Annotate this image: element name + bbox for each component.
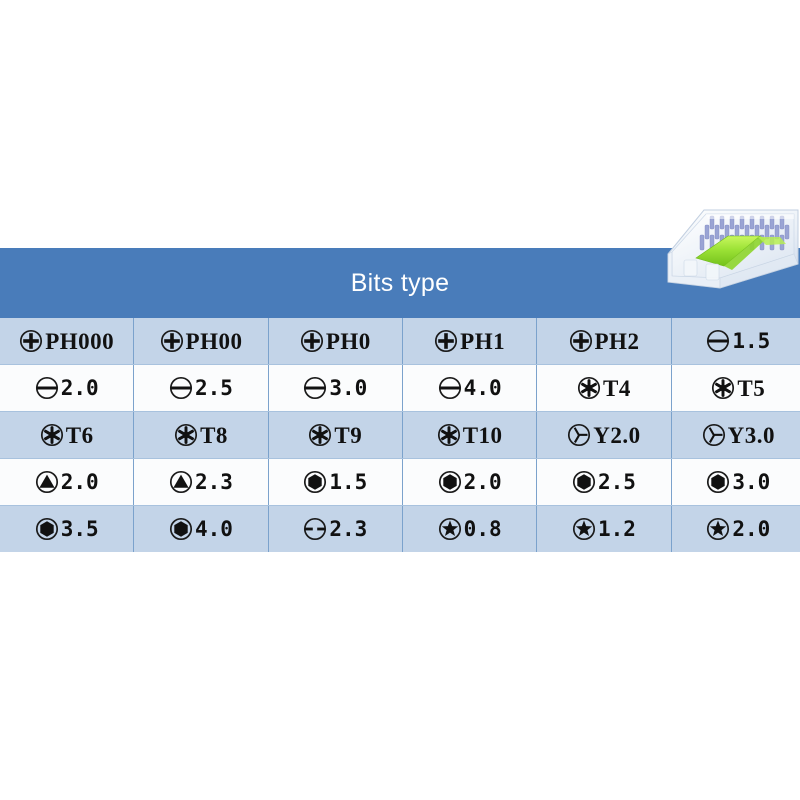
- bit-label: Y2.0: [593, 424, 640, 447]
- bit-cell[interactable]: 1.2: [537, 506, 671, 553]
- bit-label: T10: [463, 424, 503, 447]
- bits-type-banner: Bits type: [0, 248, 800, 318]
- bit-cell-content: 2.5: [572, 470, 636, 494]
- table-row: T6T8T9T10Y2.0Y3.0: [0, 412, 800, 459]
- triangle-icon: [169, 470, 193, 494]
- bit-cell[interactable]: 3.5: [0, 506, 134, 553]
- hex-socket-icon: [706, 470, 730, 494]
- bit-cell-content: PH0: [300, 329, 371, 353]
- bit-cell[interactable]: PH000: [0, 318, 134, 365]
- bit-label: Y3.0: [728, 424, 775, 447]
- bit-label: 2.5: [598, 472, 636, 493]
- page-title: Bits type: [0, 248, 800, 318]
- bit-cell-content: 4.0: [438, 376, 502, 400]
- bit-cell-content: T10: [437, 423, 503, 447]
- phillips-cross-icon: [434, 329, 458, 353]
- bits-table-body: PH000PH00PH0PH1PH21.52.02.53.04.0T4T5T6T…: [0, 318, 800, 552]
- bit-label: PH1: [460, 330, 505, 353]
- bit-label: T6: [66, 424, 94, 447]
- bit-cell[interactable]: 4.0: [134, 506, 268, 553]
- bit-cell[interactable]: 2.3: [134, 459, 268, 506]
- u-split-slot-icon: [303, 517, 327, 541]
- bit-cell-content: 2.3: [169, 470, 233, 494]
- bit-cell[interactable]: T6: [0, 412, 134, 459]
- bit-cell-content: Y3.0: [702, 423, 775, 447]
- bit-label: T5: [737, 377, 765, 400]
- pentalobe-star-icon: [706, 517, 730, 541]
- bit-cell-content: 1.5: [706, 329, 770, 353]
- bit-label: 2.0: [464, 472, 502, 493]
- bit-label: 3.0: [329, 378, 367, 399]
- bit-cell-content: PH2: [569, 329, 640, 353]
- slotted-flathead-icon: [169, 376, 193, 400]
- bit-cell[interactable]: T4: [537, 365, 671, 412]
- hex-socket-icon: [35, 517, 59, 541]
- bit-cell-content: T9: [308, 423, 362, 447]
- bit-label: 2.0: [732, 519, 770, 540]
- bit-label: 1.5: [732, 331, 770, 352]
- bit-cell-content: 1.5: [303, 470, 367, 494]
- bits-type-table: PH000PH00PH0PH1PH21.52.02.53.04.0T4T5T6T…: [0, 318, 800, 552]
- bit-label: T4: [603, 377, 631, 400]
- bit-cell[interactable]: 0.8: [402, 506, 536, 553]
- torx-star-icon: [174, 423, 198, 447]
- bit-cell-content: 2.3: [303, 517, 367, 541]
- bit-label: 4.0: [464, 378, 502, 399]
- table-row: 2.02.53.04.0T4T5: [0, 365, 800, 412]
- table-row: PH000PH00PH0PH1PH21.5: [0, 318, 800, 365]
- bits-type-spec-page: Bits type PH000PH00PH0PH1PH21.52.02.53.0…: [0, 0, 800, 800]
- bit-cell[interactable]: 2.5: [134, 365, 268, 412]
- bit-cell-content: 2.0: [706, 517, 770, 541]
- torx-star-icon: [437, 423, 461, 447]
- bit-cell[interactable]: 1.5: [268, 459, 402, 506]
- bit-cell-content: 3.5: [35, 517, 99, 541]
- pentalobe-star-icon: [438, 517, 462, 541]
- tri-wing-y-icon: [702, 423, 726, 447]
- torx-star-icon: [40, 423, 64, 447]
- bit-label: PH0: [326, 330, 371, 353]
- bit-label: 4.0: [195, 519, 233, 540]
- bit-label: 1.2: [598, 519, 636, 540]
- torx-star-icon: [711, 376, 735, 400]
- bit-label: T8: [200, 424, 228, 447]
- bit-cell-content: T4: [577, 376, 631, 400]
- bit-cell-content: 1.2: [572, 517, 636, 541]
- bit-label: 0.8: [464, 519, 502, 540]
- phillips-cross-icon: [300, 329, 324, 353]
- slotted-flathead-icon: [303, 376, 327, 400]
- bit-label: PH2: [595, 330, 640, 353]
- torx-star-icon: [308, 423, 332, 447]
- bit-cell[interactable]: Y3.0: [671, 412, 800, 459]
- bit-cell[interactable]: PH1: [402, 318, 536, 365]
- torx-star-icon: [577, 376, 601, 400]
- bit-label: 2.0: [61, 378, 99, 399]
- bit-label: 1.5: [329, 472, 367, 493]
- bit-cell[interactable]: PH00: [134, 318, 268, 365]
- phillips-cross-icon: [19, 329, 43, 353]
- pentalobe-star-icon: [572, 517, 596, 541]
- bit-cell[interactable]: T8: [134, 412, 268, 459]
- bit-cell-content: 4.0: [169, 517, 233, 541]
- table-row: 3.54.02.30.81.22.0: [0, 506, 800, 553]
- bit-cell-content: 2.0: [35, 376, 99, 400]
- slotted-flathead-icon: [35, 376, 59, 400]
- bit-cell-content: T8: [174, 423, 228, 447]
- bit-cell-content: 0.8: [438, 517, 502, 541]
- bit-cell[interactable]: 2.0: [0, 459, 134, 506]
- bit-cell-content: PH000: [19, 329, 114, 353]
- slotted-flathead-icon: [438, 376, 462, 400]
- bit-cell[interactable]: 3.0: [671, 459, 800, 506]
- bit-cell-content: T6: [40, 423, 94, 447]
- bit-label: 2.3: [329, 519, 367, 540]
- bit-cell-content: PH00: [160, 329, 243, 353]
- tri-wing-y-icon: [567, 423, 591, 447]
- hex-socket-icon: [572, 470, 596, 494]
- bit-cell[interactable]: 4.0: [402, 365, 536, 412]
- bit-label: PH00: [186, 330, 243, 353]
- hex-socket-icon: [438, 470, 462, 494]
- bit-cell[interactable]: 2.3: [268, 506, 402, 553]
- bit-label: PH000: [45, 330, 114, 353]
- bit-cell[interactable]: 2.0: [402, 459, 536, 506]
- bit-cell[interactable]: PH2: [537, 318, 671, 365]
- bit-cell-content: T5: [711, 376, 765, 400]
- bit-cell[interactable]: 2.0: [671, 506, 800, 553]
- bit-cell[interactable]: Y2.0: [537, 412, 671, 459]
- bit-cell[interactable]: 2.0: [0, 365, 134, 412]
- bit-label: 2.0: [61, 472, 99, 493]
- bit-cell-content: 3.0: [706, 470, 770, 494]
- bit-label: 2.3: [195, 472, 233, 493]
- bit-label: 2.5: [195, 378, 233, 399]
- bit-cell[interactable]: PH0: [268, 318, 402, 365]
- bit-cell-content: PH1: [434, 329, 505, 353]
- bit-cell-content: 3.0: [303, 376, 367, 400]
- slotted-flathead-icon: [706, 329, 730, 353]
- bit-cell[interactable]: 1.5: [671, 318, 800, 365]
- bit-cell[interactable]: T5: [671, 365, 800, 412]
- hex-socket-icon: [169, 517, 193, 541]
- bit-cell-content: 2.5: [169, 376, 233, 400]
- bit-cell[interactable]: 2.5: [537, 459, 671, 506]
- bit-cell[interactable]: T10: [402, 412, 536, 459]
- bit-cell-content: 2.0: [35, 470, 99, 494]
- bit-label: T9: [334, 424, 362, 447]
- bit-cell-content: Y2.0: [567, 423, 640, 447]
- bit-label: 3.0: [732, 472, 770, 493]
- triangle-icon: [35, 470, 59, 494]
- table-row: 2.02.31.52.02.53.0: [0, 459, 800, 506]
- bit-cell[interactable]: T9: [268, 412, 402, 459]
- hex-socket-icon: [303, 470, 327, 494]
- bit-cell-content: 2.0: [438, 470, 502, 494]
- phillips-cross-icon: [569, 329, 593, 353]
- phillips-cross-icon: [160, 329, 184, 353]
- bit-label: 3.5: [61, 519, 99, 540]
- bit-cell[interactable]: 3.0: [268, 365, 402, 412]
